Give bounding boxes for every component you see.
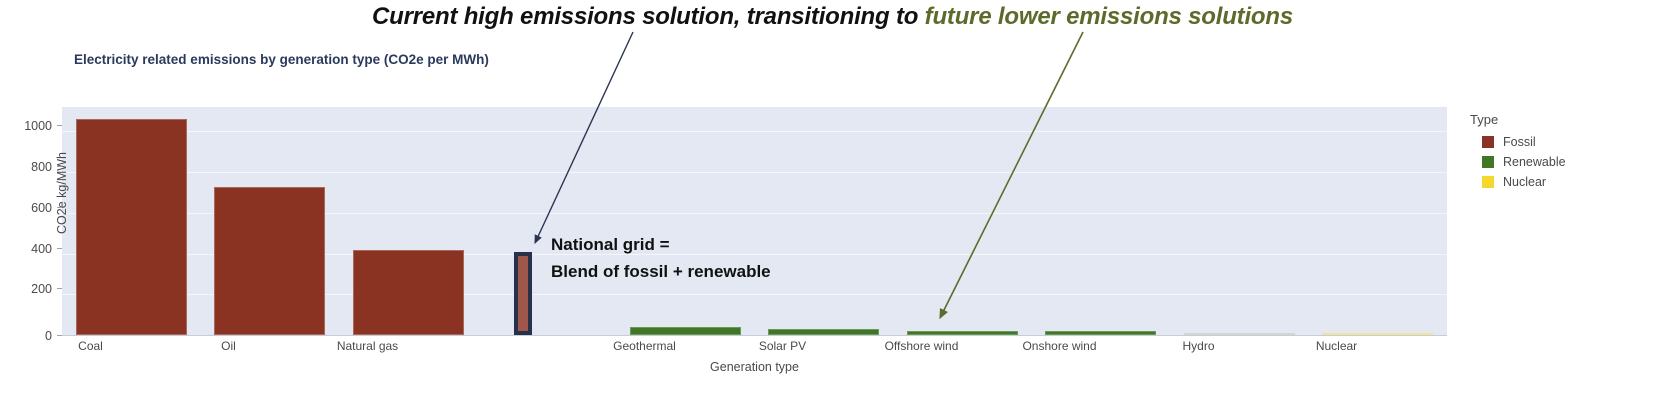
bar-slot-hydro [1184, 107, 1295, 335]
x-tick-label-hydro: Hydro [1129, 339, 1268, 353]
bar-slot-solar-pv [768, 107, 879, 335]
x-axis-title: Generation type [62, 360, 1447, 374]
callout-national-grid: National grid = Blend of fossil + renewa… [551, 231, 771, 285]
headline-annotation: Current high emissions solution, transit… [0, 0, 1665, 36]
x-tick-label-solar-pv: Solar PV [713, 339, 852, 353]
bar-coal[interactable] [76, 119, 187, 335]
bar-slot-oil [214, 107, 325, 335]
x-tick-label-offshore-wind: Offshore wind [852, 339, 991, 353]
callout-line-2: Blend of fossil + renewable [551, 258, 771, 285]
x-tick-label-onshore-wind: Onshore wind [990, 339, 1129, 353]
x-tick-label-coal: Coal [21, 339, 160, 353]
bar-slot-offshore-wind [907, 107, 1018, 335]
callout-line-1: National grid = [551, 231, 771, 258]
x-tick-label-oil: Oil [159, 339, 298, 353]
y-tick-mark [57, 288, 62, 289]
bar-natural-gas[interactable] [353, 250, 464, 335]
x-tick-label-geothermal: Geothermal [575, 339, 714, 353]
legend-swatch-nuclear [1482, 176, 1494, 188]
x-tick-label-natural-gas: Natural gas [298, 339, 437, 353]
bar-slot-geothermal [630, 107, 741, 335]
headline-green-text: future lower emissions solutions [925, 3, 1293, 30]
y-tick-label-1000: 1000 [8, 119, 52, 133]
bar-slot-nuclear [1322, 107, 1433, 335]
y-tick-mark [57, 207, 62, 208]
legend-title: Type [1470, 112, 1660, 127]
y-tick-label-200: 200 [8, 282, 52, 296]
legend-item-fossil[interactable]: Fossil [1470, 133, 1660, 150]
bar-slot-onshore-wind [1045, 107, 1156, 335]
y-tick-label-600: 600 [8, 201, 52, 215]
legend: Type Fossil Renewable Nuclear [1470, 112, 1660, 193]
legend-swatch-renewable [1482, 156, 1494, 168]
legend-item-nuclear[interactable]: Nuclear [1470, 173, 1660, 190]
y-tick-label-800: 800 [8, 160, 52, 174]
legend-swatch-fossil [1482, 136, 1494, 148]
legend-item-renewable[interactable]: Renewable [1470, 153, 1660, 170]
y-tick-mark [57, 166, 62, 167]
y-tick-mark [57, 248, 62, 249]
y-tick-mark [57, 125, 62, 126]
x-axis-line [62, 335, 1447, 336]
legend-label-renewable: Renewable [1503, 155, 1566, 169]
bar-slot-national-grid [514, 107, 532, 335]
bar-slot-coal [76, 107, 187, 335]
y-axis-title: CO2e kg/MWh [55, 123, 69, 263]
legend-label-fossil: Fossil [1503, 135, 1536, 149]
bar-oil[interactable] [214, 187, 325, 336]
headline-dark-text: Current high emissions solution, transit… [372, 3, 925, 30]
bar-national-grid-highlighted[interactable] [514, 252, 532, 335]
y-tick-label-400: 400 [8, 242, 52, 256]
x-tick-label-nuclear: Nuclear [1267, 339, 1406, 353]
legend-label-nuclear: Nuclear [1503, 175, 1546, 189]
bar-geothermal[interactable] [630, 327, 741, 335]
plot-area [62, 107, 1447, 335]
bar-slot-natural-gas [353, 107, 464, 335]
chart-title: Electricity related emissions by generat… [74, 52, 489, 67]
